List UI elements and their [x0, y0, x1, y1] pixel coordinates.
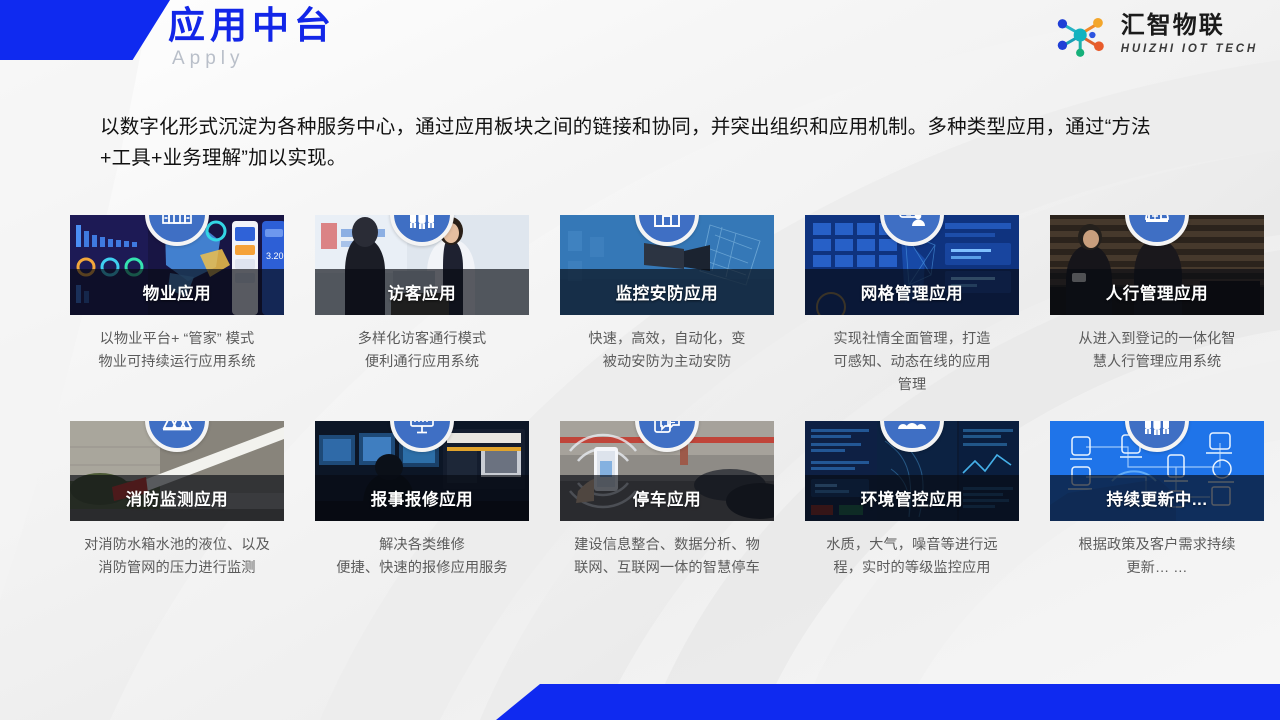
card-title: 人行管理应用 — [1050, 280, 1264, 304]
app-card-fire-monitoring[interactable]: 消防监测应用 对消防水箱水池的液位、以及 消防管网的压力进行监测 — [70, 421, 284, 580]
logo-name-cn: 汇智物联 — [1121, 13, 1258, 39]
brand-logo: 汇智物联 HUIZHI IOT TECH — [1054, 12, 1258, 58]
page-title: 应用中台 — [168, 4, 336, 48]
card-title: 消防监测应用 — [70, 486, 284, 510]
card-caption: 对消防水箱水池的液位、以及 消防管网的压力进行监测 — [70, 534, 284, 580]
card-thumbnail: 访客应用 — [315, 215, 529, 315]
card-title: 停车应用 — [560, 486, 774, 510]
card-caption: 实现社情全面管理，打造 可感知、动态在线的应用 管理 — [805, 328, 1019, 397]
footer-band — [0, 684, 1280, 720]
card-caption: 快速，高效，自动化，变 被动安防为主动安防 — [560, 328, 774, 374]
app-card-grid-management[interactable]: 网格管理应用 实现社情全面管理，打造 可感知、动态在线的应用 管理 — [805, 215, 1019, 397]
card-caption: 从进入到登记的一体化智 慧人行管理应用系统 — [1050, 328, 1264, 374]
card-caption: 解决各类维修 便捷、快速的报修应用服务 — [315, 534, 529, 580]
svg-text:3.20: 3.20 — [266, 251, 284, 261]
title-block: 应用中台 Apply — [168, 4, 336, 70]
card-caption: 以物业平台+ “管家” 模式 物业可持续运行应用系统 — [70, 328, 284, 374]
intro-paragraph: 以数字化形式沉淀为各种服务中心，通过应用板块之间的链接和协同，并突出组织和应用机… — [100, 112, 1180, 174]
card-title: 访客应用 — [315, 280, 529, 304]
card-title: 物业应用 — [70, 280, 284, 304]
app-card-continuous-update[interactable]: 持续更新中... 根据政策及客户需求持续 更新… … — [1050, 421, 1264, 580]
app-card-pedestrian[interactable]: 人行管理应用 从进入到登记的一体化智 慧人行管理应用系统 — [1050, 215, 1264, 397]
card-caption: 多样化访客通行模式 便利通行应用系统 — [315, 328, 529, 374]
app-card-visitor[interactable]: 访客应用 多样化访客通行模式 便利通行应用系统 — [315, 215, 529, 397]
card-title: 报事报修应用 — [315, 486, 529, 510]
app-card-property[interactable]: 3.20 物业应用 — [70, 215, 284, 397]
slide-canvas: 应用中台 Apply 汇智物联 — [0, 0, 1280, 720]
card-row-1: 3.20 物业应用 — [70, 215, 1212, 397]
molecule-network-icon — [1054, 12, 1112, 58]
card-title: 监控安防应用 — [560, 280, 774, 304]
card-thumbnail: 消防监测应用 — [70, 421, 284, 521]
card-title: 网格管理应用 — [805, 280, 1019, 304]
card-thumbnail: 报事报修应用 — [315, 421, 529, 521]
card-thumbnail: 持续更新中... — [1050, 421, 1264, 521]
app-card-parking[interactable]: 停车应用 建设信息整合、数据分析、物 联网、互联网一体的智慧 — [560, 421, 774, 580]
header-corner-shape — [0, 0, 170, 60]
card-title: 持续更新中... — [1050, 486, 1264, 510]
application-card-grid: 3.20 物业应用 — [70, 215, 1212, 580]
page-subtitle: Apply — [172, 48, 336, 70]
card-caption: 水质，大气，噪音等进行远 程，实时的等级监控应用 — [805, 534, 1019, 580]
logo-name-en: HUIZHI IOT TECH — [1121, 41, 1258, 57]
card-thumbnail: 停车应用 — [560, 421, 774, 521]
app-card-surveillance[interactable]: 监控安防应用 快速，高效，自动化，变 被动安防为主动安防 — [560, 215, 774, 397]
page-header: 应用中台 Apply 汇智物联 — [0, 0, 1280, 88]
card-thumbnail: 网格管理应用 — [805, 215, 1019, 315]
app-card-repair-report[interactable]: 报事报修应用 解决各类维修 便捷、快速的报修应用服务 — [315, 421, 529, 580]
card-thumbnail: 3.20 物业应用 — [70, 215, 284, 315]
app-card-environment[interactable]: 环境管控应用 水质，大气，噪音等进行远 程，实时的等级监控应用 — [805, 421, 1019, 580]
card-caption: 建设信息整合、数据分析、物 联网、互联网一体的智慧停车 — [560, 534, 774, 580]
card-thumbnail: 监控安防应用 — [560, 215, 774, 315]
card-title: 环境管控应用 — [805, 486, 1019, 510]
card-caption: 根据政策及客户需求持续 更新… … — [1050, 534, 1264, 580]
card-row-2: 消防监测应用 对消防水箱水池的液位、以及 消防管网的压力进行监测 — [70, 421, 1212, 580]
card-thumbnail: 人行管理应用 — [1050, 215, 1264, 315]
card-thumbnail: 环境管控应用 — [805, 421, 1019, 521]
